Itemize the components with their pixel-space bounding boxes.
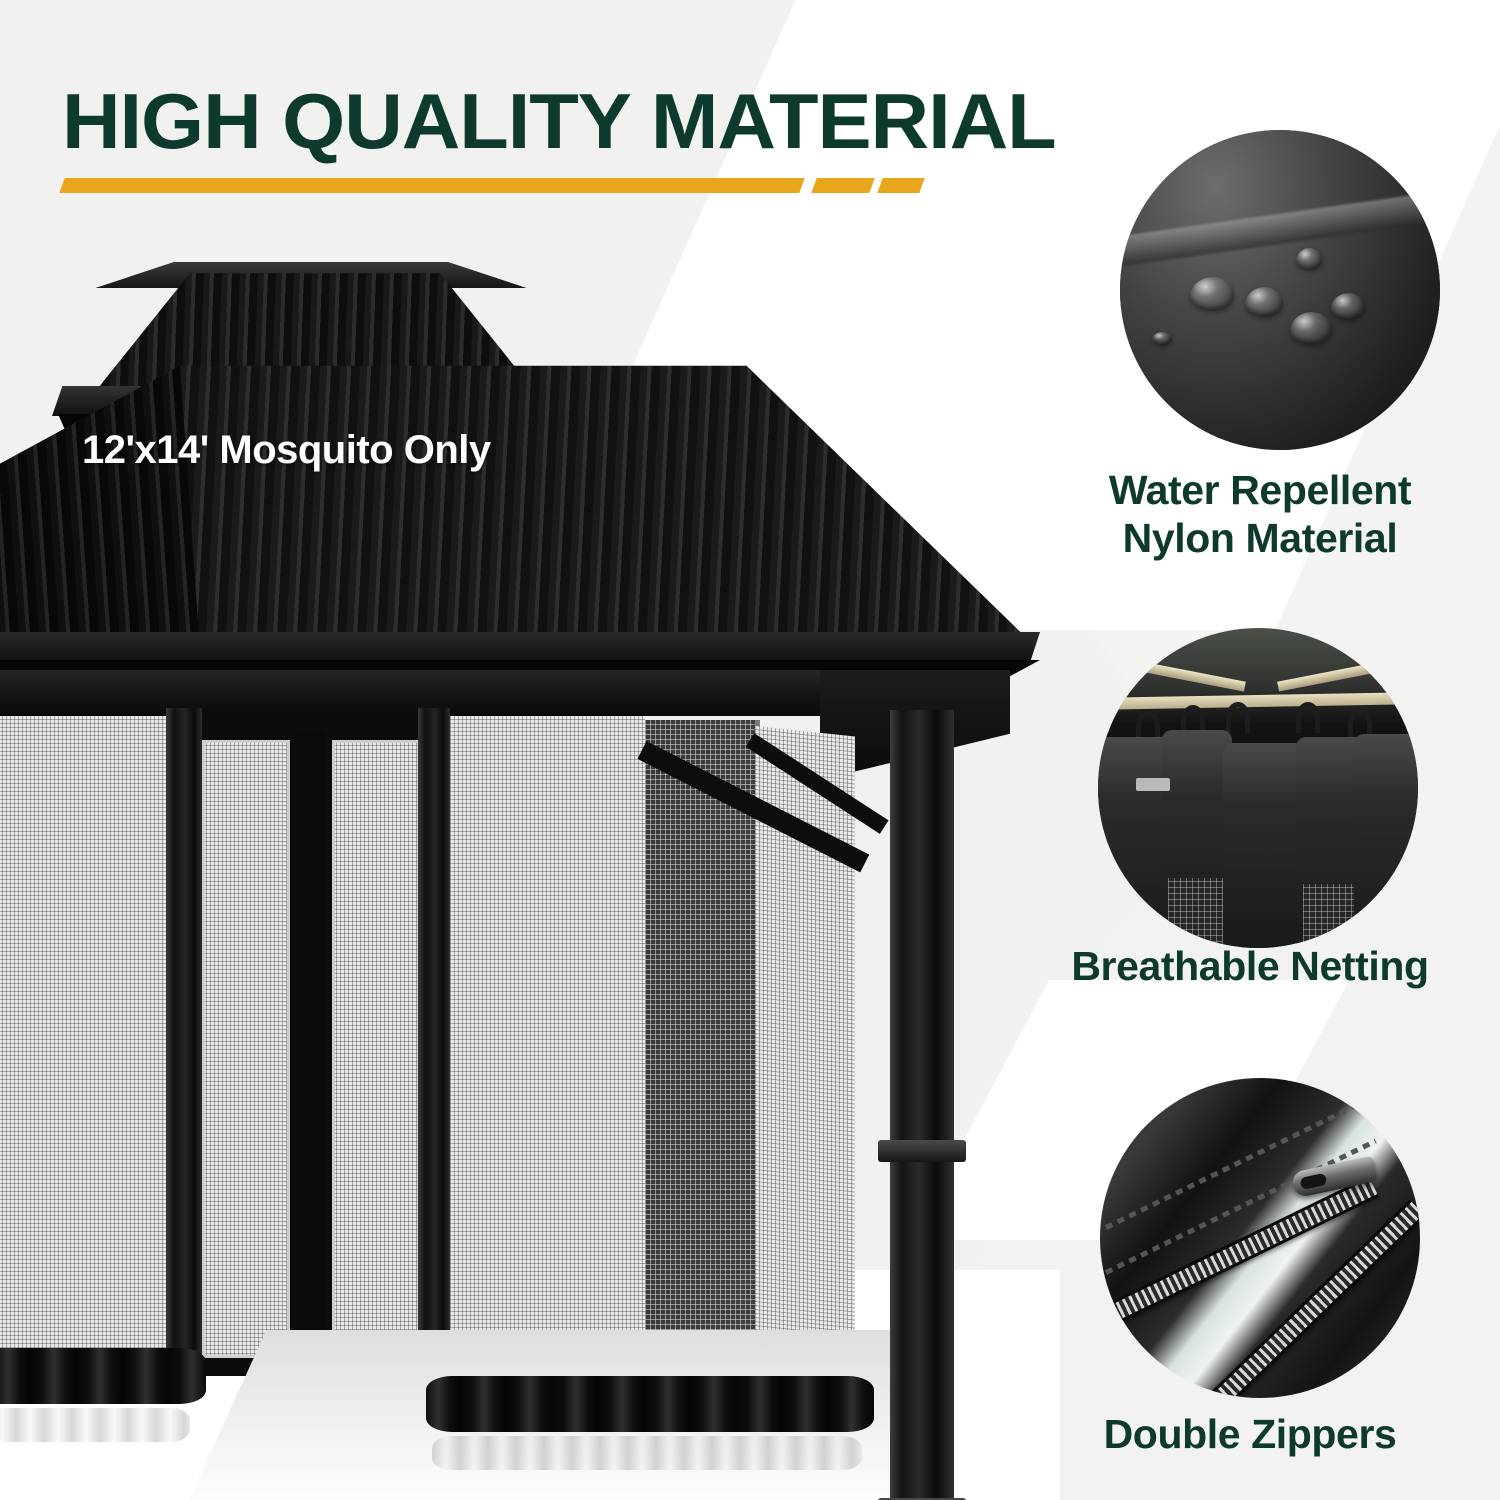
page-title: HIGH QUALITY MATERIAL xyxy=(62,76,1056,167)
product-tag xyxy=(1136,778,1170,791)
fabric-texture xyxy=(1120,130,1440,450)
netting-door-panel-right xyxy=(332,740,420,1358)
curtain-panel xyxy=(1354,734,1418,948)
accent-bar-long xyxy=(59,178,804,193)
frame-post-right-of-door xyxy=(418,708,450,1386)
feature-caption-double-zippers: Double Zippers xyxy=(1010,1410,1490,1458)
water-droplet-icon xyxy=(1190,277,1234,311)
product-photo-gazebo xyxy=(0,240,1060,1420)
netting-door-panel-left xyxy=(202,740,290,1358)
netting-hem-reflection-middle xyxy=(432,1436,862,1470)
accent-bar-mid xyxy=(811,178,874,193)
post-bracket-upper xyxy=(878,1140,966,1162)
netting-hem-left xyxy=(0,1348,206,1404)
water-droplet-icon xyxy=(1152,332,1172,345)
door-center-stile xyxy=(296,730,326,1366)
accent-bar-short xyxy=(877,178,924,193)
water-droplet-icon xyxy=(1331,293,1365,320)
water-droplet-icon xyxy=(1245,287,1283,317)
netting-panel-middle xyxy=(430,716,645,1376)
curtain-hook-icon xyxy=(1296,702,1320,733)
feature-caption-water-repellent: Water Repellent Nylon Material xyxy=(1020,466,1500,563)
feature-image-water-repellent xyxy=(1120,130,1440,450)
feature-image-double-zippers xyxy=(1100,1078,1420,1398)
frame-post-corner xyxy=(890,710,954,1500)
frame-post-left xyxy=(166,708,202,1398)
feature-image-breathable-netting xyxy=(1098,628,1418,948)
feature-caption-breathable-netting: Breathable Netting xyxy=(1000,942,1500,990)
netting-section xyxy=(1303,884,1354,948)
curtain-panel xyxy=(1223,743,1306,948)
netting-panel-far-interior xyxy=(645,720,755,1360)
water-droplet-icon xyxy=(1296,248,1322,270)
netting-hem-reflection-left xyxy=(0,1408,190,1442)
product-size-label: 12'x14' Mosquito Only xyxy=(82,428,491,473)
feature-caption-line-1: Water Repellent xyxy=(1020,466,1500,514)
netting-hem-middle xyxy=(426,1376,874,1432)
water-droplet-icon xyxy=(1290,312,1332,345)
netting-section xyxy=(1168,878,1222,948)
marketing-infographic: HIGH QUALITY MATERIAL xyxy=(0,0,1500,1500)
title-underline-accent xyxy=(62,176,922,198)
netting-panel-left xyxy=(0,716,172,1376)
feature-caption-line-2: Nylon Material xyxy=(1020,514,1500,562)
curtain-hook-icon xyxy=(1226,702,1250,733)
curtain-panel xyxy=(1098,737,1172,948)
